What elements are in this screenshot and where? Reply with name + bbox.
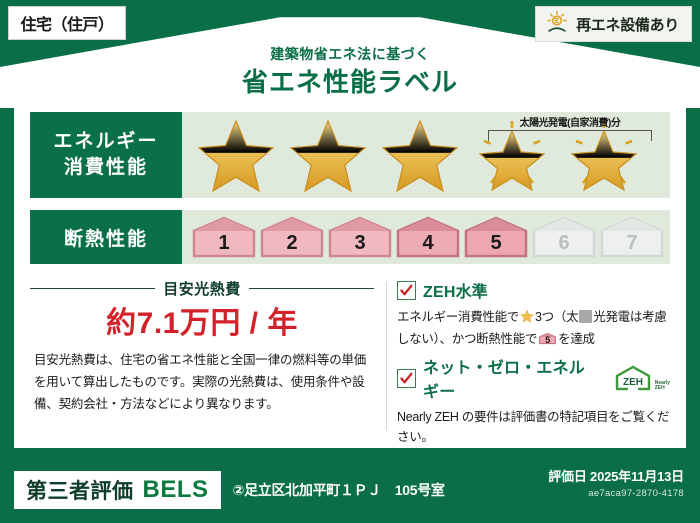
- zeh-logo-subtext: Nearly ZEH: [655, 381, 670, 392]
- energy-label-line2: 消費性能: [64, 155, 148, 181]
- heading-rule-left: [30, 288, 155, 289]
- insulation-grade-6-value: 6: [558, 232, 569, 255]
- insulation-grade-4-value: 4: [422, 232, 433, 255]
- energy-performance-row: エネルギー 消費性能: [30, 112, 670, 198]
- property-address: ②足立区北加平町１ＰＪ 105号室: [233, 480, 445, 500]
- zeh-logo-icon: ZEH Nearly ZEH: [613, 365, 670, 391]
- zeh-body-mid: 3つ（太: [535, 310, 578, 324]
- third-party-label: 第三者評価: [26, 475, 134, 505]
- checkmark-icon: [397, 369, 416, 388]
- net-zero-title: ネット・ゼロ・エネルギー ZEH Nearly ZEH: [397, 354, 670, 402]
- energy-cost-note: 目安光熱費は、住宅の省エネ性能と全国一律の燃料等の単価を用いて算出したものです。…: [34, 350, 374, 416]
- label-main-card: エネルギー 消費性能: [14, 96, 686, 448]
- insulation-grade-3: 3: [328, 216, 392, 258]
- insulation-grade-5: 5: [464, 216, 528, 258]
- energy-cost-heading: 目安光熱費: [30, 278, 374, 299]
- evaluation-id: ae7aca97-2870-4178: [548, 488, 684, 499]
- insulation-grade-7-value: 7: [626, 232, 637, 255]
- certification-checks: ZEH水準 エネルギー消費性能で3つ（太光発電は考慮しない）、かつ断熱性能で5を…: [397, 278, 670, 434]
- insulation-grade-1: 1: [192, 216, 256, 258]
- star-rating: [182, 112, 670, 198]
- net-zero-label: ネット・ゼロ・エネルギー: [423, 354, 601, 402]
- energy-cost-heading-text: 目安光熱費: [163, 278, 241, 299]
- energy-cost-section: 目安光熱費 約7.1万円 / 年 目安光熱費は、住宅の省エネ性能と全国一律の燃料…: [30, 278, 380, 434]
- zeh-standard-body: エネルギー消費性能で3つ（太光発電は考慮しない）、かつ断熱性能で5を達成: [397, 307, 670, 349]
- bels-logo-text: BELS: [143, 476, 209, 504]
- insulation-grade-1-value: 1: [218, 232, 229, 255]
- zeh-standard-label: ZEH水準: [423, 278, 488, 302]
- evaluation-info: 評価日 2025年11月13日 ae7aca97-2870-4178: [548, 466, 684, 499]
- checkmark-icon: [397, 281, 416, 300]
- renewable-equipment-badge: 再エネ設備あり: [535, 6, 692, 42]
- insulation-performance-row: 断熱性能 1 2 3: [30, 210, 670, 264]
- bels-certification-box: 第三者評価 BELS: [14, 471, 221, 509]
- star-filled-1: [192, 115, 280, 195]
- page-title: 省エネ性能ラベル: [0, 62, 700, 99]
- housing-type-badge: 住宅（住戸）: [8, 6, 126, 40]
- net-zero-energy-check: ネット・ゼロ・エネルギー ZEH Nearly ZEH: [397, 354, 670, 447]
- insulation-grade-2: 2: [260, 216, 324, 258]
- column-divider: [386, 282, 387, 430]
- energy-performance-label: 住宅（住戸） 再エネ設備あり 建築物省エネ法に基づく 省エネ性能ラベル: [0, 0, 700, 523]
- star-filled-2: [284, 115, 372, 195]
- zeh-standard-check: ZEH水準 エネルギー消費性能で3つ（太光発電は考慮しない）、かつ断熱性能で5を…: [397, 278, 670, 349]
- label-footer: 第三者評価 BELS ②足立区北加平町１ＰＪ 105号室 評価日 2025年11…: [0, 456, 700, 523]
- insulation-grade-3-value: 3: [354, 232, 365, 255]
- heading-rule-right: [249, 288, 374, 289]
- energy-performance-value: 太陽光発電(自家消費)分: [182, 112, 670, 198]
- insulation-grade-2-value: 2: [286, 232, 297, 255]
- inline-star-icon: [520, 309, 534, 329]
- header-subtitle: 建築物省エネ法に基づく: [0, 44, 700, 64]
- insulation-grade-6: 6: [532, 216, 596, 258]
- insulation-performance-value: 1 2 3 4 5: [182, 210, 670, 264]
- star-filled-3: [376, 115, 464, 195]
- star-solar-4: [468, 115, 556, 195]
- renewable-badge-label: 再エネ設備あり: [576, 14, 679, 35]
- zeh-body-pre: エネルギー消費性能で: [397, 310, 519, 324]
- zeh-logo-sub2: ZEH: [655, 385, 665, 391]
- zeh-standard-title: ZEH水準: [397, 278, 670, 302]
- redacted-character: [579, 310, 592, 323]
- svg-text:ZEH: ZEH: [623, 377, 643, 388]
- zeh-body-post: を達成: [558, 332, 595, 346]
- insulation-performance-label: 断熱性能: [30, 210, 182, 264]
- energy-cost-value: 約7.1万円 / 年: [30, 298, 374, 342]
- energy-label-line1: エネルギー: [53, 129, 158, 155]
- energy-performance-label: エネルギー 消費性能: [30, 112, 182, 198]
- evaluation-date: 評価日 2025年11月13日: [548, 466, 684, 485]
- insulation-grade-scale: 1 2 3 4 5: [182, 210, 670, 264]
- label-bottom-section: 目安光熱費 約7.1万円 / 年 目安光熱費は、住宅の省エネ性能と全国一律の燃料…: [30, 278, 670, 434]
- inline-house-icon: 5: [539, 331, 556, 346]
- solar-sun-icon: [545, 10, 569, 39]
- insulation-grade-5-value: 5: [490, 232, 501, 255]
- star-solar-5: [560, 115, 648, 195]
- net-zero-body: Nearly ZEH の要件は評価書の特記項目をご覧ください。: [397, 407, 670, 447]
- insulation-grade-7: 7: [600, 216, 664, 258]
- insulation-grade-4: 4: [396, 216, 460, 258]
- inline-house-value: 5: [539, 331, 556, 346]
